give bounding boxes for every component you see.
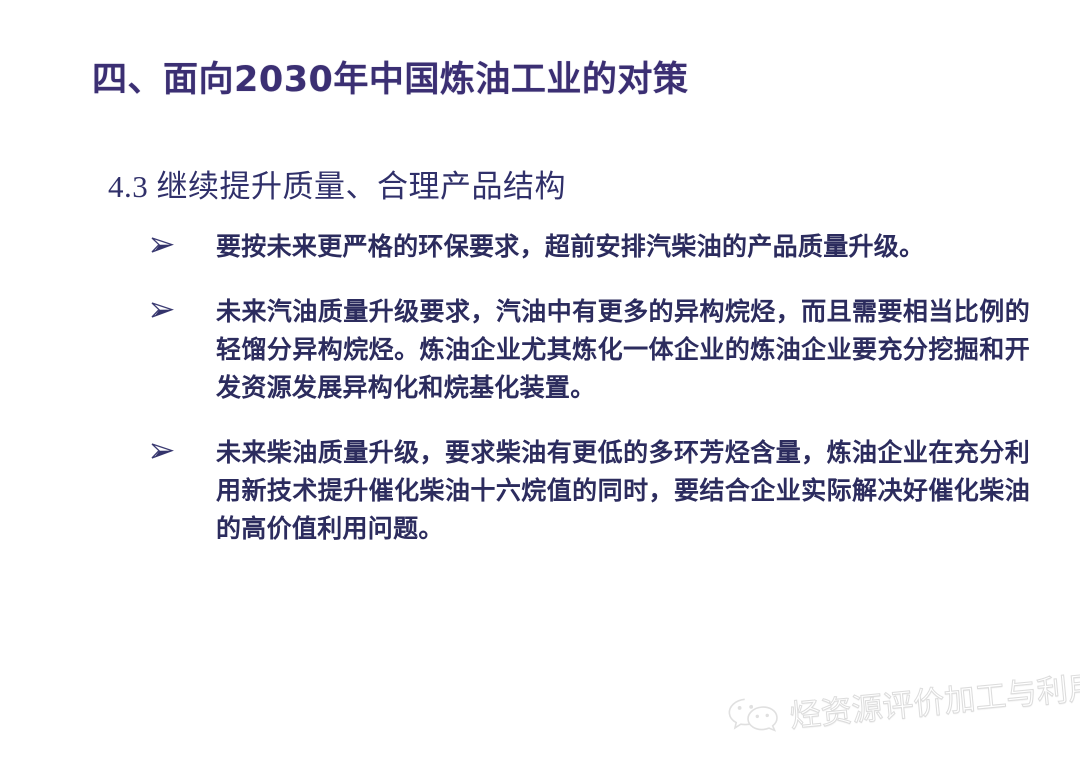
slide-canvas: 四、面向2030年中国炼油工业的对策 4.3 继续提升质量、合理产品结构 要按未… (0, 0, 1080, 763)
list-item-text: 要按未来更严格的环保要求，超前安排汽柴油的产品质量升级。 (216, 228, 1030, 266)
page-title: 四、面向2030年中国炼油工业的对策 (92, 58, 992, 102)
list-item: 未来柴油质量升级，要求柴油有更低的多环芳烃含量，炼油企业在充分利用新技术提升催化… (150, 434, 1030, 548)
arrow-bullet-icon (150, 228, 216, 255)
arrow-bullet-icon (150, 293, 216, 320)
bullet-list: 要按未来更严格的环保要求，超前安排汽柴油的产品质量升级。 未来汽油质量升级要求，… (150, 228, 1030, 575)
wechat-logo-icon (724, 692, 786, 741)
list-item-text: 未来汽油质量升级要求，汽油中有更多的异构烷烃，而且需要相当比例的轻馏分异构烷烃。… (216, 293, 1030, 407)
list-item-text: 未来柴油质量升级，要求柴油有更低的多环芳烃含量，炼油企业在充分利用新技术提升催化… (216, 434, 1030, 548)
section-heading: 4.3 继续提升质量、合理产品结构 (108, 161, 566, 206)
watermark-text: 烃资源评价加工与利用 (788, 661, 1080, 736)
arrow-bullet-icon (150, 434, 216, 461)
watermark: 烃资源评价加工与利用 (723, 657, 1057, 750)
list-item: 要按未来更严格的环保要求，超前安排汽柴油的产品质量升级。 (150, 228, 1030, 266)
list-item: 未来汽油质量升级要求，汽油中有更多的异构烷烃，而且需要相当比例的轻馏分异构烷烃。… (150, 293, 1030, 407)
